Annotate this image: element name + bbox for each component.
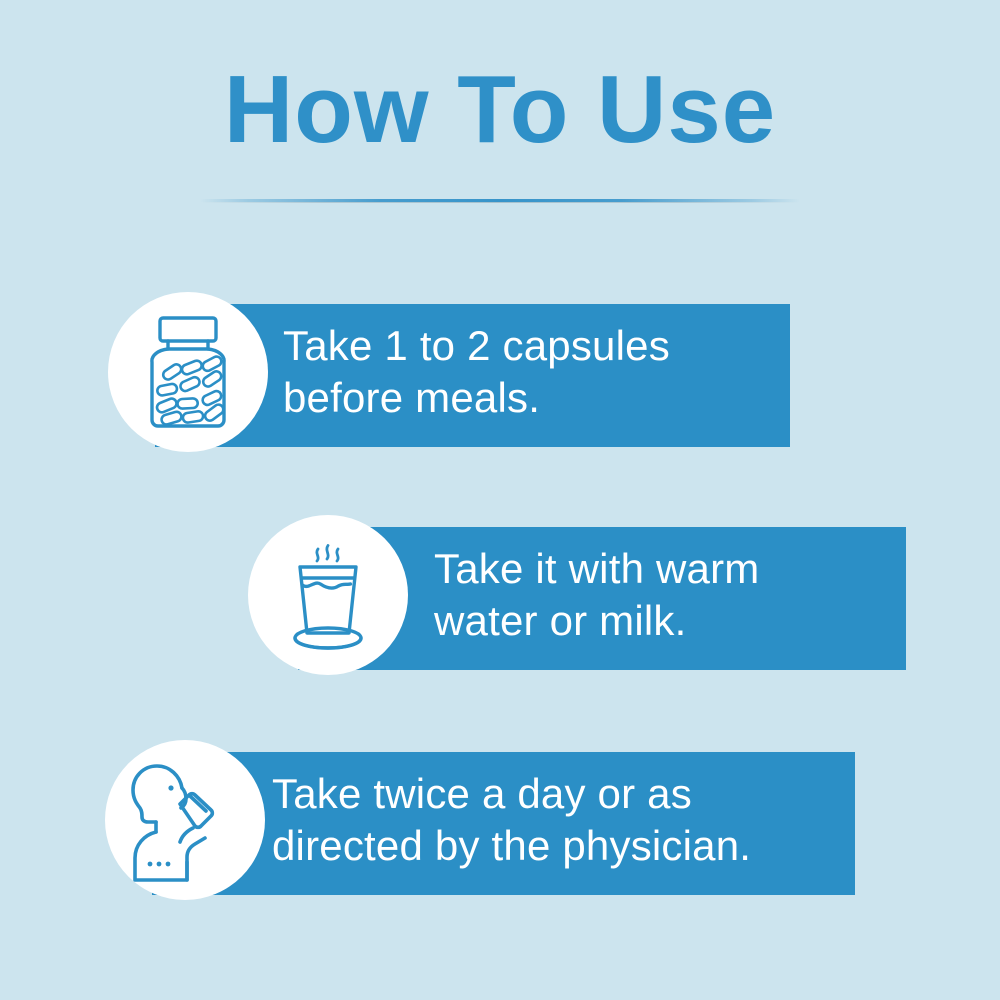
step-row-2: Take it with warm water or milk. — [248, 515, 928, 675]
step-text-2-line1: Take it with warm — [434, 545, 759, 592]
step-text-2-line2: water or milk. — [434, 597, 687, 644]
step-text-3-line1: Take twice a day or as — [272, 770, 692, 817]
step-badge-3 — [105, 740, 265, 900]
step-badge-1 — [108, 292, 268, 452]
step-text-3-line2: directed by the physician. — [272, 822, 751, 869]
step-text-3: Take twice a day or as directed by the p… — [272, 768, 751, 872]
step-text-2: Take it with warm water or milk. — [434, 543, 759, 647]
header: How To Use — [0, 0, 1000, 230]
step-row-1: Take 1 to 2 capsules before meals. — [108, 292, 808, 452]
step-text-1-line1: Take 1 to 2 capsules — [283, 322, 670, 369]
step-row-3: Take twice a day or as directed by the p… — [105, 740, 880, 900]
page-title: How To Use — [0, 62, 1000, 158]
title-divider — [200, 198, 800, 203]
warm-glass-icon — [273, 535, 383, 655]
pill-bottle-icon — [135, 314, 241, 430]
step-badge-2 — [248, 515, 408, 675]
step-text-1: Take 1 to 2 capsules before meals. — [283, 320, 670, 424]
step-text-1-line2: before meals. — [283, 374, 540, 421]
person-drinking-icon — [127, 758, 243, 882]
divider-shadow — [200, 202, 800, 203]
